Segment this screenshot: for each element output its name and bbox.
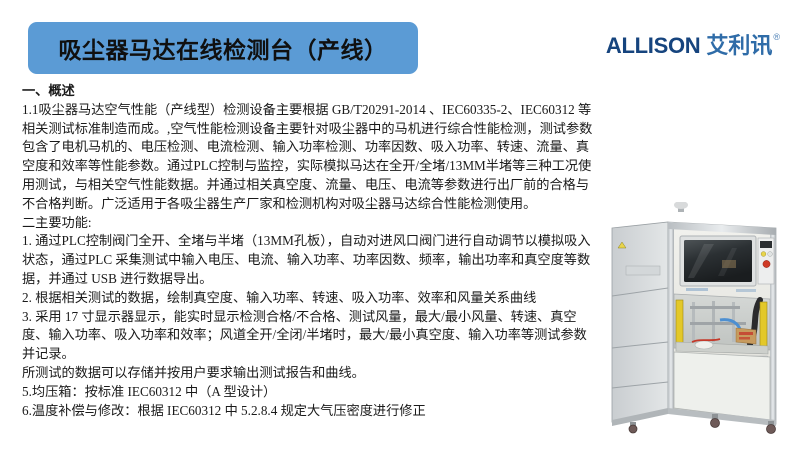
logo-chinese-text: 艾利讯 — [706, 33, 772, 59]
slide-body-content: 一、概述 1.1吸尘器马达空气性能（产线型）检测设备主要根据 GB/T20291… — [22, 82, 594, 420]
feature-item-3: 3. 采用 17 寸显示器显示，能实时显示检测合格/不合格、测试风量，最大/最小… — [22, 308, 594, 364]
section-heading-functions: 二主要功能: — [22, 214, 594, 233]
registered-trademark-icon: ® — [773, 32, 780, 42]
feature-item-1: 1. 通过PLC控制阀门全开、全堵与半堵（13MM孔板），自动对进风口阀门进行自… — [22, 232, 594, 288]
paragraph-overview: 1.1吸尘器马达空气性能（产线型）检测设备主要根据 GB/T20291-2014… — [22, 101, 594, 214]
slide-title-banner: 吸尘器马达在线检测台（产线） — [28, 22, 418, 74]
note-data-storage: 所测试的数据可以存储并按用户要求输出测试报告和曲线。 — [22, 364, 594, 383]
logo-latin-text: ALLISON — [606, 33, 700, 59]
section-heading-overview: 一、概述 — [22, 82, 594, 101]
caster-wheel-icon — [629, 422, 637, 433]
feature-item-5: 5.均压箱：按标准 IEC60312 中（A 型设计） — [22, 383, 594, 402]
company-logo: ALLISON 艾利讯 ® — [606, 33, 780, 63]
equipment-photo — [600, 202, 796, 434]
feature-item-2: 2. 根据相关测试的数据，绘制真空度、输入功率、转速、吸入功率、效率和风量关系曲… — [22, 289, 594, 308]
feature-item-6: 6.温度补偿与修改：根据 IEC60312 中 5.2.8.4 规定大气压密度进… — [22, 402, 594, 421]
page-title: 吸尘器马达在线检测台（产线） — [59, 31, 388, 65]
